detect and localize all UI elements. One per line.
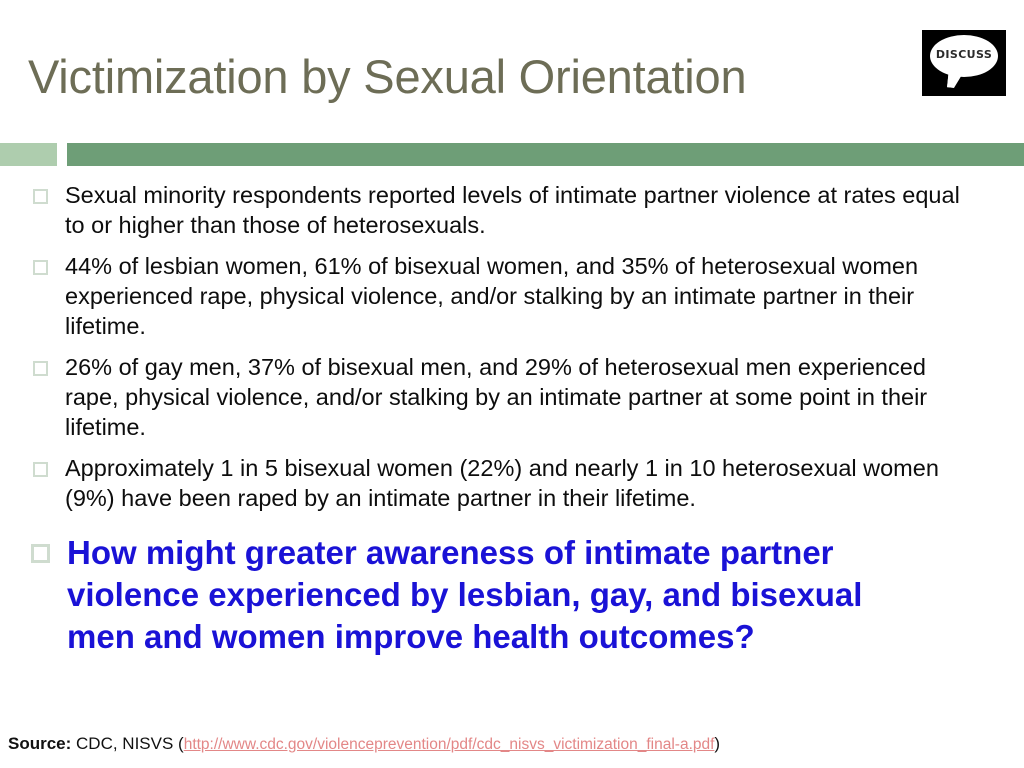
discuss-badge-label: DISCUSS — [930, 48, 998, 61]
list-item-text: 26% of gay men, 37% of bisexual men, and… — [65, 352, 984, 442]
list-item-discussion-question: How might greater awareness of intimate … — [0, 532, 1024, 658]
accent-bar-main — [67, 143, 1024, 166]
square-bullet-icon — [33, 462, 48, 477]
accent-bar-small — [0, 143, 57, 166]
list-item-text: Sexual minority respondents reported lev… — [65, 180, 984, 240]
discussion-question-text: How might greater awareness of intimate … — [67, 532, 929, 658]
list-item: Approximately 1 in 5 bisexual women (22%… — [0, 453, 1024, 513]
slide-header: Victimization by Sexual Orientation DISC… — [0, 0, 1024, 140]
square-bullet-icon — [33, 260, 48, 275]
list-item-text: 44% of lesbian women, 61% of bisexual wo… — [65, 251, 984, 341]
slide-body: Sexual minority respondents reported lev… — [0, 180, 1024, 669]
square-bullet-icon — [33, 189, 48, 204]
discuss-badge[interactable]: DISCUSS — [922, 30, 1006, 96]
source-closing-paren: ) — [714, 734, 720, 753]
square-bullet-icon — [33, 361, 48, 376]
source-url-link[interactable]: http://www.cdc.gov/violenceprevention/pd… — [184, 736, 715, 753]
speech-bubble-tail-icon — [947, 68, 965, 89]
list-item-text: Approximately 1 in 5 bisexual women (22%… — [65, 453, 984, 513]
source-citation-text: CDC, NISVS ( — [71, 734, 183, 753]
source-label: Source: — [8, 734, 71, 753]
list-item: 26% of gay men, 37% of bisexual men, and… — [0, 352, 1024, 442]
list-item: 44% of lesbian women, 61% of bisexual wo… — [0, 251, 1024, 341]
square-bullet-icon — [31, 544, 50, 563]
list-item: Sexual minority respondents reported lev… — [0, 180, 1024, 240]
page-title: Victimization by Sexual Orientation — [28, 48, 746, 106]
source-citation: Source: CDC, NISVS (http://www.cdc.gov/v… — [8, 733, 720, 756]
